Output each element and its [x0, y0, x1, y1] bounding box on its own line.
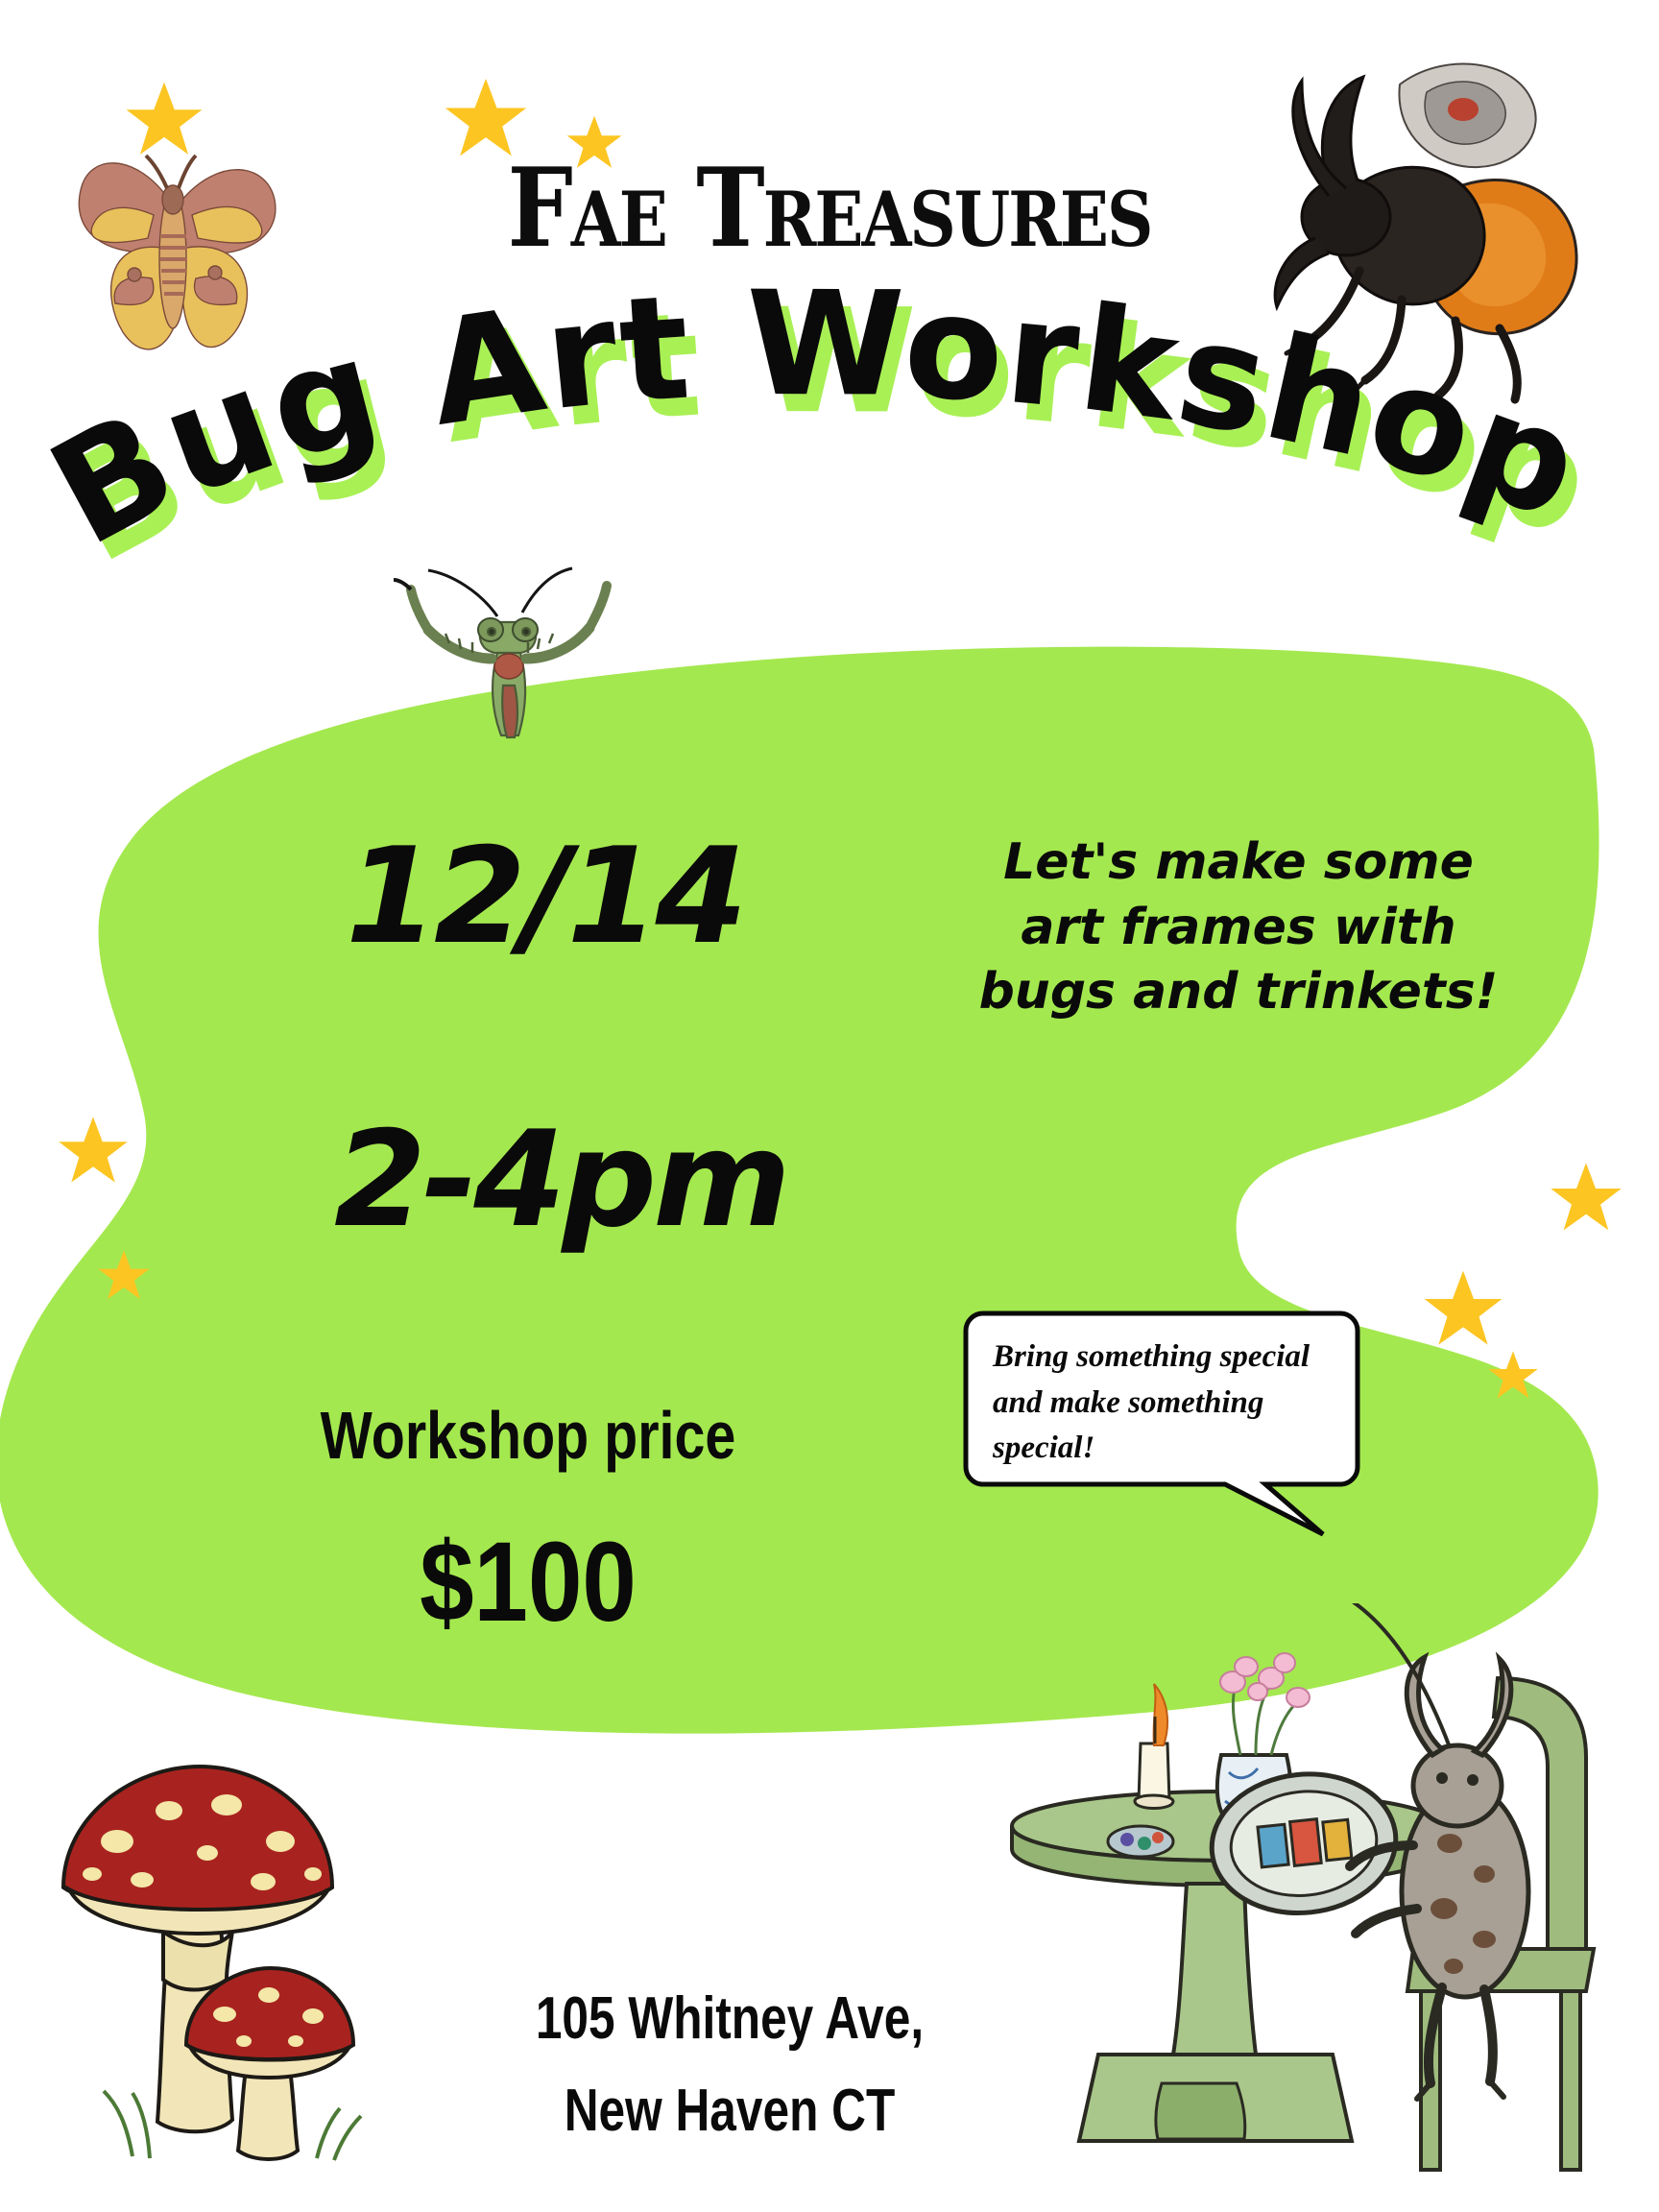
speech-bubble: Bring something special and make somethi… — [960, 1306, 1363, 1536]
star-icon — [56, 1114, 131, 1193]
star-icon — [1421, 1267, 1505, 1357]
headline-arched: Bug Art Workshop Bug Art Workshop — [0, 288, 1659, 672]
star-icon — [96, 1248, 152, 1309]
green-blob-background — [0, 614, 1659, 1747]
speech-bubble-text: Bring something special and make somethi… — [993, 1334, 1319, 1472]
poster-canvas: Fae Treasures Bug Art Workshop Bug Art W… — [0, 0, 1659, 2212]
venue-address: 105 Whitney Ave, New Haven CT — [515, 1973, 945, 2157]
workshop-date: 12/14 — [346, 830, 743, 963]
headline-main-text: Bug Art Workshop — [26, 261, 1602, 579]
brand-title: Fae Treasures — [0, 144, 1659, 272]
address-line-1: 105 Whitney Ave, — [515, 1973, 945, 2065]
beetle-at-desk-illustration — [998, 1603, 1623, 2203]
price-amount: $100 — [297, 1517, 759, 1647]
price-label: Workshop price — [307, 1397, 748, 1474]
headline-main: Bug Art Workshop — [26, 261, 1602, 579]
star-icon — [1486, 1349, 1540, 1407]
amanita-mushrooms-illustration — [29, 1728, 480, 2175]
workshop-blurb: Let's make some art frames with bugs and… — [960, 830, 1517, 1025]
workshop-time: 2-4pm — [334, 1114, 787, 1246]
address-line-2: New Haven CT — [515, 2065, 945, 2157]
star-icon — [1548, 1160, 1624, 1241]
